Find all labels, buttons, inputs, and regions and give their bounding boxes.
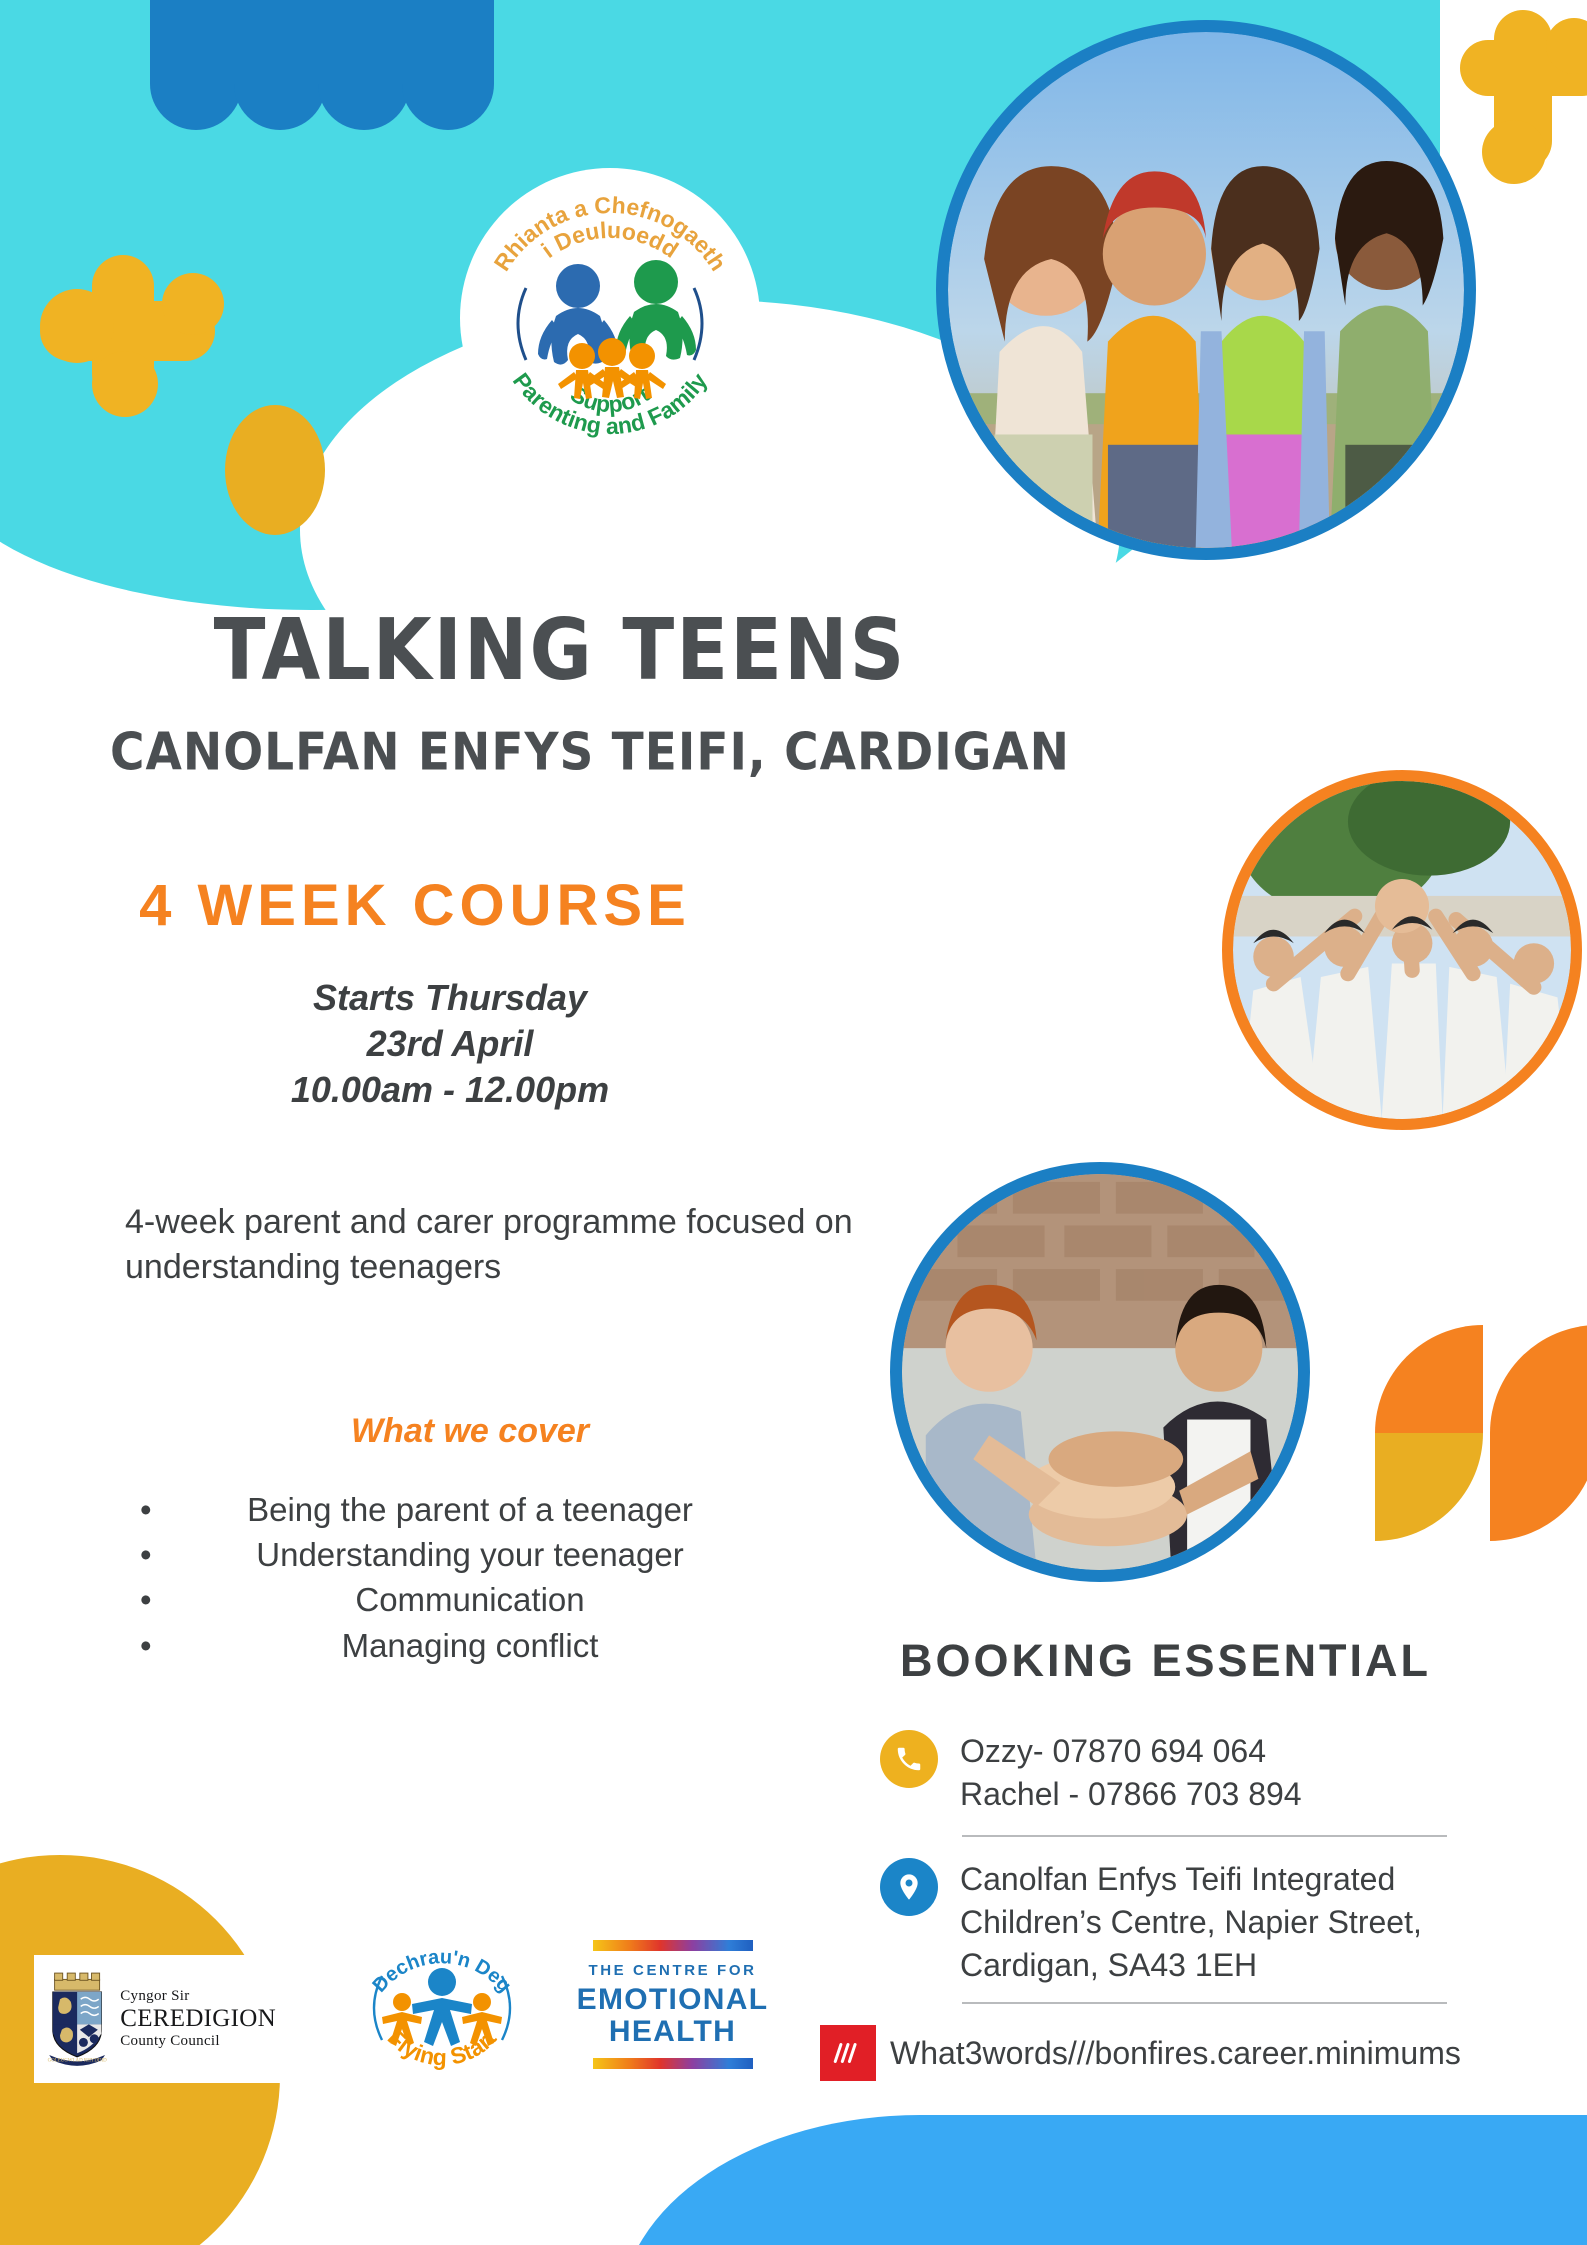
rainbow-bar-top	[593, 1940, 753, 1951]
what3words-row[interactable]: What3words///bonfires.career.minimums	[820, 2025, 1461, 2081]
what-we-cover-heading: What we cover	[0, 1412, 940, 1451]
page-title: TALKING TEENS	[0, 600, 1120, 700]
course-schedule: Starts Thursday 23rd April 10.00am - 12.…	[0, 975, 900, 1113]
photo-group-of-teenagers	[936, 20, 1476, 560]
what-we-cover-list: • Being the parent of a teenager • Under…	[110, 1487, 830, 1668]
ceredigion-crest-icon: GOLEUGWLAD RHYDDID	[42, 1965, 112, 2073]
phone-numbers: Ozzy- 07870 694 064 Rachel - 07866 703 8…	[960, 1730, 1302, 1816]
emotional-health-line-1: THE CENTRE FOR	[565, 1962, 780, 1979]
address-line-2: Children’s Centre, Napier Street,	[960, 1904, 1422, 1940]
yellow-ellipse-decoration	[225, 405, 325, 535]
svg-text:GOLEUGWLAD RHYDDID: GOLEUGWLAD RHYDDID	[48, 2058, 108, 2063]
ceredigion-line-2: CEREDIGION	[120, 2005, 276, 2033]
bullet-icon: •	[140, 1623, 152, 1668]
list-item-label: Being the parent of a teenager	[247, 1491, 693, 1528]
decorative-quote-shapes	[1375, 1325, 1587, 1545]
list-item-label: Communication	[355, 1581, 584, 1618]
address-row[interactable]: Canolfan Enfys Teifi Integrated Children…	[880, 1858, 1520, 1988]
divider-2	[962, 2002, 1447, 2004]
schedule-line-2: 23rd April	[0, 1021, 900, 1067]
yellow-cross-top-right	[1460, 10, 1587, 190]
photo-hands-together-circle	[1222, 770, 1582, 1130]
parenting-and-family-support-logo: Rhianta a Chefnogaeth i Deuluoedd Parent…	[460, 168, 760, 468]
blue-bottom-shape	[620, 2115, 1587, 2245]
emotional-health-line-2: EMOTIONAL	[565, 1984, 780, 2016]
bullet-icon: •	[140, 1577, 152, 1622]
address-line-1: Canolfan Enfys Teifi Integrated	[960, 1861, 1395, 1897]
emotional-health-line-3: HEALTH	[565, 2016, 780, 2048]
ceredigion-line-1: Cyngor Sir	[120, 1988, 276, 2005]
phone-contact-row[interactable]: Ozzy- 07870 694 064 Rachel - 07866 703 8…	[880, 1730, 1500, 1816]
address-text: Canolfan Enfys Teifi Integrated Children…	[960, 1858, 1422, 1988]
what3words-address: What3words///bonfires.career.minimums	[890, 2035, 1461, 2072]
list-item: • Managing conflict	[110, 1623, 830, 1668]
phone-icon	[880, 1730, 938, 1788]
schedule-line-1: Starts Thursday	[0, 975, 900, 1021]
list-item: • Communication	[110, 1577, 830, 1622]
schedule-line-3: 10.00am - 12.00pm	[0, 1067, 900, 1113]
phone-line-2: Rachel - 07866 703 894	[960, 1776, 1302, 1812]
dechraun-deg-flying-start-logo: Dechrau'n Deg Flying Start	[352, 1918, 532, 2098]
list-item-label: Managing conflict	[342, 1627, 599, 1664]
centre-for-emotional-health-logo: THE CENTRE FOR EMOTIONAL HEALTH	[565, 1940, 780, 2085]
divider-1	[962, 1835, 1447, 1837]
booking-essential-heading: BOOKING ESSENTIAL	[900, 1635, 1580, 1687]
list-item: • Understanding your teenager	[110, 1532, 830, 1577]
ceredigion-county-council-logo: GOLEUGWLAD RHYDDID Cyngor Sir CEREDIGION…	[34, 1955, 284, 2083]
bullet-icon: •	[140, 1487, 152, 1532]
list-item-label: Understanding your teenager	[256, 1536, 683, 1573]
location-pin-icon	[880, 1858, 938, 1916]
photo-group-stacking-hands	[890, 1162, 1310, 1582]
course-description: 4-week parent and carer programme focuse…	[125, 1200, 855, 1290]
page-subtitle: CANOLFAN ENFYS TEIFI, CARDIGAN	[0, 722, 1180, 783]
course-length-label: 4 WEEK COURSE	[0, 872, 830, 939]
ceredigion-line-3: County Council	[120, 2033, 276, 2050]
phone-line-1: Ozzy- 07870 694 064	[960, 1733, 1266, 1769]
address-line-3: Cardigan, SA43 1EH	[960, 1947, 1257, 1983]
yellow-cross-left	[40, 255, 230, 425]
what3words-icon	[820, 2025, 876, 2081]
list-item: • Being the parent of a teenager	[110, 1487, 830, 1532]
rainbow-bar-bottom	[593, 2058, 753, 2069]
ceredigion-wordmark: Cyngor Sir CEREDIGION County Council	[120, 1988, 276, 2050]
poster-canvas: Rhianta a Chefnogaeth i Deuluoedd Parent…	[0, 0, 1587, 2245]
bullet-icon: •	[140, 1532, 152, 1577]
